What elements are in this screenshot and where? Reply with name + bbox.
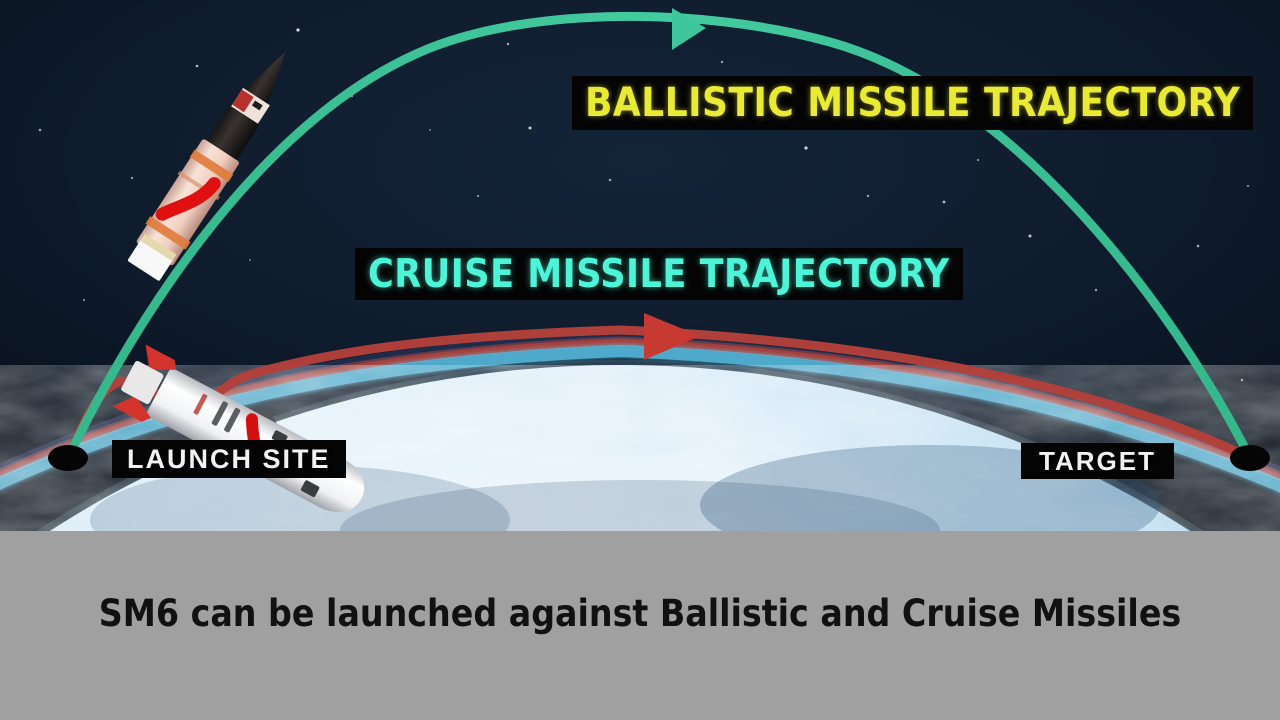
- label-launch-site: LAUNCH SITE: [112, 440, 346, 478]
- illustration-scene: BALLISTIC MISSILE TRAJECTORY CRUISE MISS…: [0, 0, 1280, 531]
- caption-text: SM6 can be launched against Ballistic an…: [80, 587, 1200, 641]
- label-target-text: TARGET: [1039, 448, 1156, 474]
- label-cruise-missile-trajectory: CRUISE MISSILE TRAJECTORY: [355, 248, 963, 300]
- label-launch-site-text: LAUNCH SITE: [127, 446, 331, 473]
- label-ballistic-missile-trajectory: BALLISTIC MISSILE TRAJECTORY: [572, 76, 1253, 130]
- page-root: BALLISTIC MISSILE TRAJECTORY CRUISE MISS…: [0, 0, 1280, 720]
- launch-site-marker: [48, 445, 88, 471]
- label-cruise-text: CRUISE MISSILE TRAJECTORY: [368, 255, 950, 294]
- caption-bar: SM6 can be launched against Ballistic an…: [0, 531, 1280, 720]
- target-marker: [1230, 445, 1270, 471]
- label-target: TARGET: [1021, 443, 1174, 479]
- label-ballistic-text: BALLISTIC MISSILE TRAJECTORY: [585, 83, 1240, 123]
